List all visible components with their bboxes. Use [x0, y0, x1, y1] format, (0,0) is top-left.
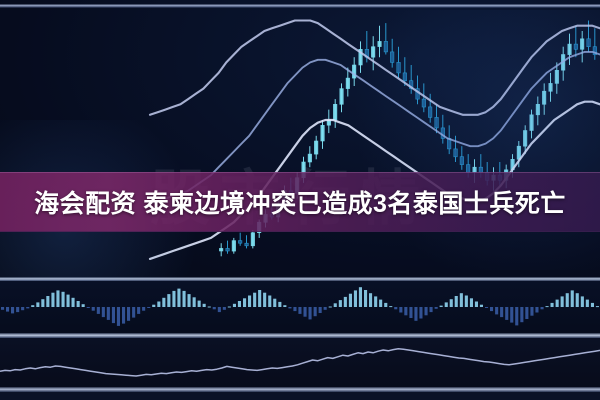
- price-candlestick-panel: [0, 0, 600, 278]
- price-chart-svg: [0, 0, 600, 278]
- headline-text: 海会配资 泰柬边境冲突已造成3名泰国士兵死亡: [0, 172, 600, 232]
- index-line-panel: [0, 338, 600, 390]
- bottom-filler: [0, 392, 600, 400]
- macd-histogram-panel: [0, 281, 600, 333]
- histogram-chart-svg: [0, 281, 600, 333]
- line-chart-svg: [0, 338, 600, 390]
- chart-screenshot: 股市行情 海会配资 泰柬边境冲突已造成3名泰国士兵死亡: [0, 0, 600, 400]
